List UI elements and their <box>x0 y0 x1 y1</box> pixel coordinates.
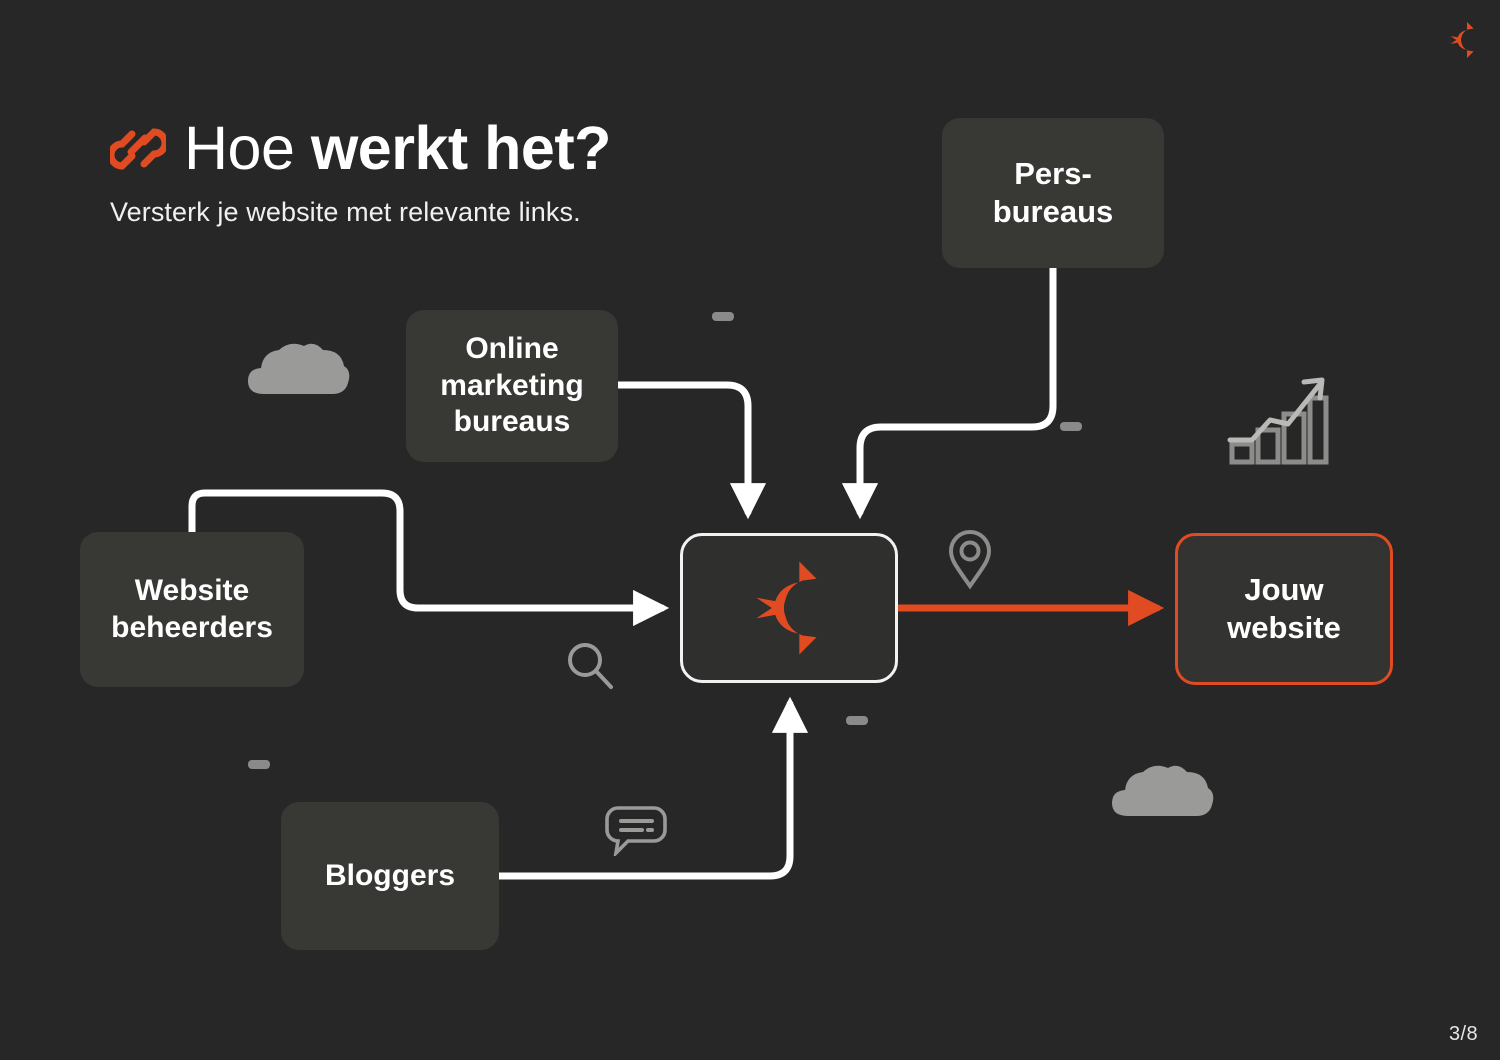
node-jouw-website[interactable]: Jouwwebsite <box>1175 533 1393 685</box>
slide-canvas: Hoe werkt het? Versterk je website met r… <box>0 0 1500 1060</box>
dash-icon <box>712 312 734 321</box>
node-website-beheerders[interactable]: Websitebeheerders <box>80 532 304 687</box>
dash-icon <box>1060 422 1082 431</box>
node-persbureaus-label: Pers-bureaus <box>993 155 1114 231</box>
cloud-icon <box>244 338 352 400</box>
cloud-icon <box>1108 760 1218 822</box>
edge-online-to-hub <box>618 385 748 512</box>
flow-diagram: Pers-bureaus Onlinemarketingbureaus Webs… <box>0 0 1500 1060</box>
edge-persbureaus-to-hub <box>860 268 1053 512</box>
magnifier-icon <box>562 638 618 694</box>
connector-wires <box>0 0 1500 1060</box>
chat-bubble-icon <box>604 804 668 856</box>
node-jouw-website-label: Jouwwebsite <box>1227 571 1341 647</box>
growth-bar-chart-icon <box>1226 372 1330 466</box>
dash-icon <box>846 716 868 725</box>
node-bloggers[interactable]: Bloggers <box>281 802 499 950</box>
map-pin-icon <box>946 528 994 590</box>
node-hub[interactable] <box>680 533 898 683</box>
company-c-logo-icon <box>746 556 832 660</box>
node-bloggers-label: Bloggers <box>325 858 455 895</box>
node-online-marketing-bureaus[interactable]: Onlinemarketingbureaus <box>406 310 618 462</box>
dash-icon <box>248 760 270 769</box>
page-number: 3/8 <box>1449 1023 1478 1046</box>
node-website-beheerders-label: Websitebeheerders <box>111 573 273 646</box>
node-persbureaus[interactable]: Pers-bureaus <box>942 118 1164 268</box>
node-online-marketing-bureaus-label: Onlinemarketingbureaus <box>440 331 583 441</box>
